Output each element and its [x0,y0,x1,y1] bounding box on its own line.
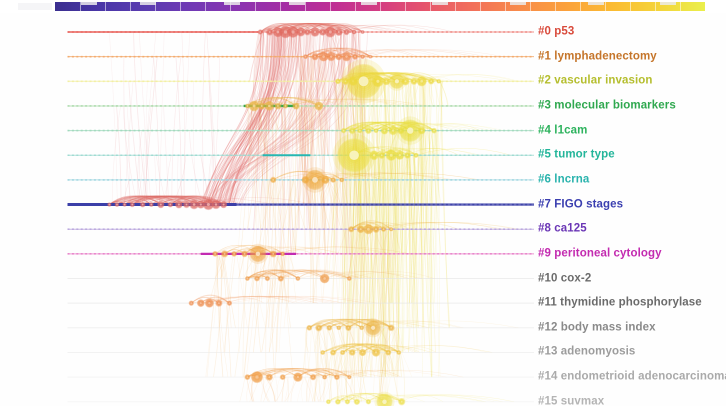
cluster-node[interactable] [379,152,385,158]
cluster-node[interactable] [245,277,249,281]
cluster-node[interactable] [336,399,341,404]
cluster-node[interactable] [275,103,281,109]
cluster-node[interactable] [347,277,351,281]
cluster-node[interactable] [405,152,411,158]
citation-link [316,180,318,303]
cluster-node[interactable] [252,372,263,383]
cluster-node[interactable] [320,274,329,283]
cluster-node[interactable] [213,251,218,256]
cluster-node[interactable] [184,202,190,208]
citation-link [109,32,117,205]
cluster-node[interactable] [327,325,332,330]
cluster-node[interactable] [158,201,164,207]
colormap-tick [330,2,331,11]
cluster-node[interactable] [366,128,372,134]
cluster-node[interactable] [429,79,434,84]
timeline-plot-area [0,13,726,406]
cluster-node[interactable] [259,103,265,109]
colormap-tick [480,2,481,11]
citespace-cluster-timeline: #0 p53#1 lymphadenectomy#2 vascular inva… [0,0,726,406]
cluster-node[interactable] [419,127,425,133]
cluster-node[interactable] [176,201,183,208]
citation-link [139,32,151,205]
citation-link [317,377,323,402]
cluster-node[interactable] [361,30,364,33]
cluster-node[interactable] [359,349,365,355]
colormap-tick [355,2,356,11]
citation-link [137,131,144,205]
cluster-node[interactable] [205,299,213,307]
cluster-node[interactable] [316,325,322,331]
citation-link [285,377,295,402]
cluster-node[interactable] [168,202,173,207]
cluster-node[interactable] [327,53,335,61]
cluster-node[interactable] [360,326,364,330]
cluster-node[interactable] [349,128,355,134]
colormap-tick [680,2,681,11]
colormap-left-pad [18,3,52,10]
cluster-node[interactable] [400,120,421,141]
cluster-node[interactable] [337,326,341,330]
cluster-node[interactable] [386,150,396,160]
colormap-tick [305,2,306,11]
cluster-node[interactable] [340,178,344,182]
cluster-node[interactable] [323,375,327,379]
cluster-node[interactable] [293,103,299,109]
cluster-node[interactable] [349,350,355,356]
cluster-node[interactable] [307,325,312,330]
cluster-node[interactable] [315,102,323,110]
colormap-tick [405,2,406,11]
cluster-node[interactable] [250,246,265,261]
cluster-node[interactable] [280,375,285,380]
cluster-node[interactable] [220,201,226,207]
cluster-node[interactable] [374,129,378,133]
cluster-node[interactable] [437,79,441,83]
colormap-notch [140,2,156,5]
cluster-node[interactable] [432,128,437,133]
cluster-node[interactable] [331,178,336,183]
cluster-node[interactable] [344,29,349,34]
colormap-tick [580,2,581,11]
cluster-node[interactable] [352,30,356,34]
cluster-node[interactable] [304,55,308,59]
citation-link [260,377,272,402]
cluster-node[interactable] [311,28,319,36]
colormap-notch [361,2,377,5]
cluster-node[interactable] [373,76,383,86]
cluster-node[interactable] [270,251,276,257]
cluster-node[interactable] [321,350,325,354]
cluster-node[interactable] [370,151,378,159]
cluster-node[interactable] [297,28,305,36]
cluster-node[interactable] [249,101,259,111]
cluster-node[interactable] [326,400,330,404]
year-colormap-bar [0,0,726,13]
colormap-tick [455,2,456,11]
colormap-notch [432,2,448,5]
cluster-node[interactable] [140,202,145,207]
cluster-node[interactable] [357,226,364,233]
cluster-node[interactable] [386,350,391,355]
citation-link [240,377,245,402]
cluster-node[interactable] [123,203,127,207]
cluster-node[interactable] [381,227,385,231]
cluster-node[interactable] [396,151,404,159]
cluster-node[interactable] [389,227,393,231]
colormap-notch [224,2,240,5]
citation-link [223,254,235,328]
cluster-node[interactable] [265,276,269,280]
cluster-node[interactable] [345,400,349,404]
colormap-tick [630,2,631,11]
cluster-node[interactable] [149,203,153,207]
cluster-node[interactable] [411,78,417,84]
cluster-node[interactable] [294,373,302,381]
colormap-tick [655,2,656,11]
citation-link [282,377,285,402]
cluster-node[interactable] [388,325,394,331]
cluster-node[interactable] [216,300,222,306]
cluster-node[interactable] [364,225,373,234]
cluster-node[interactable] [325,27,335,37]
cluster-node[interactable] [115,203,119,207]
cluster-node[interactable] [346,325,351,330]
colormap-tick [105,2,106,11]
citation-link [193,81,197,204]
cluster-node[interactable] [212,201,220,209]
cluster-node[interactable] [331,350,336,355]
cluster-node[interactable] [417,77,426,86]
cluster-node[interactable] [267,29,273,35]
cluster-node[interactable] [335,29,342,36]
cluster-node[interactable] [354,399,359,404]
colormap-tick [430,2,431,11]
cluster-node[interactable] [197,300,204,307]
cluster-node[interactable] [222,251,228,257]
cluster-node[interactable] [271,177,276,182]
cluster-node[interactable] [402,78,409,85]
cluster-node[interactable] [283,104,287,108]
cluster-node[interactable] [369,55,372,58]
cluster-node[interactable] [232,251,237,256]
cluster-node[interactable] [255,276,260,281]
cluster-node[interactable] [366,400,370,404]
cluster-node[interactable] [338,139,370,171]
cluster-node[interactable] [278,276,283,281]
colormap-tick [205,2,206,11]
cluster-node[interactable] [227,301,231,305]
citation-link [268,377,275,402]
colormap-tick [380,2,381,11]
citation-link [183,32,190,205]
colormap-notch [660,2,676,5]
colormap-tick [180,2,181,11]
cluster-node[interactable] [266,374,272,380]
cluster-node[interactable] [265,102,273,110]
cluster-node[interactable] [414,153,418,157]
cluster-node[interactable] [336,53,342,59]
cluster-node[interactable] [397,350,401,354]
colormap-tick [255,2,256,11]
colormap-tick [280,2,281,11]
cluster-node[interactable] [348,375,352,379]
cluster-node[interactable] [281,252,285,256]
colormap-notch [289,2,305,5]
timeline-svg [0,13,726,406]
citation-link [301,377,303,402]
cluster-node[interactable] [336,79,341,84]
cluster-node[interactable] [305,29,311,35]
cluster-node[interactable] [340,350,344,354]
cluster-node[interactable] [381,127,388,134]
citation-link [159,32,164,205]
cluster-node[interactable] [352,54,357,59]
cluster-node[interactable] [130,202,134,206]
citation-link [222,254,231,377]
cluster-node[interactable] [108,203,112,207]
cluster-node[interactable] [342,52,350,60]
cluster-node[interactable] [335,375,340,380]
cluster-node[interactable] [399,399,405,405]
colormap-tick [130,2,131,11]
cluster-node[interactable] [311,375,316,380]
cluster-node[interactable] [366,321,380,335]
cluster-node[interactable] [245,375,250,380]
colormap-tick [555,2,556,11]
cluster-node[interactable] [242,251,248,257]
colormap-ticks [55,2,705,11]
colormap-notch [81,2,97,5]
colormap-notch [588,2,604,5]
colormap-tick [505,2,506,11]
cluster-node[interactable] [361,55,365,59]
cluster-node[interactable] [341,128,345,132]
cluster-node[interactable] [349,227,354,232]
cluster-node[interactable] [189,301,193,305]
cluster-node[interactable] [296,277,300,281]
cluster-node[interactable] [322,176,329,183]
cluster-node[interactable] [372,349,380,357]
cluster-node[interactable] [373,226,379,232]
colormap-tick [530,2,531,11]
citation-link [129,81,141,204]
citation-link [257,180,269,254]
cluster-node[interactable] [389,127,397,135]
colormap-tick [605,2,606,11]
cluster-node[interactable] [358,128,362,132]
cluster-node[interactable] [258,30,262,34]
cluster-node[interactable] [312,53,318,59]
colormap-notch [510,2,526,5]
